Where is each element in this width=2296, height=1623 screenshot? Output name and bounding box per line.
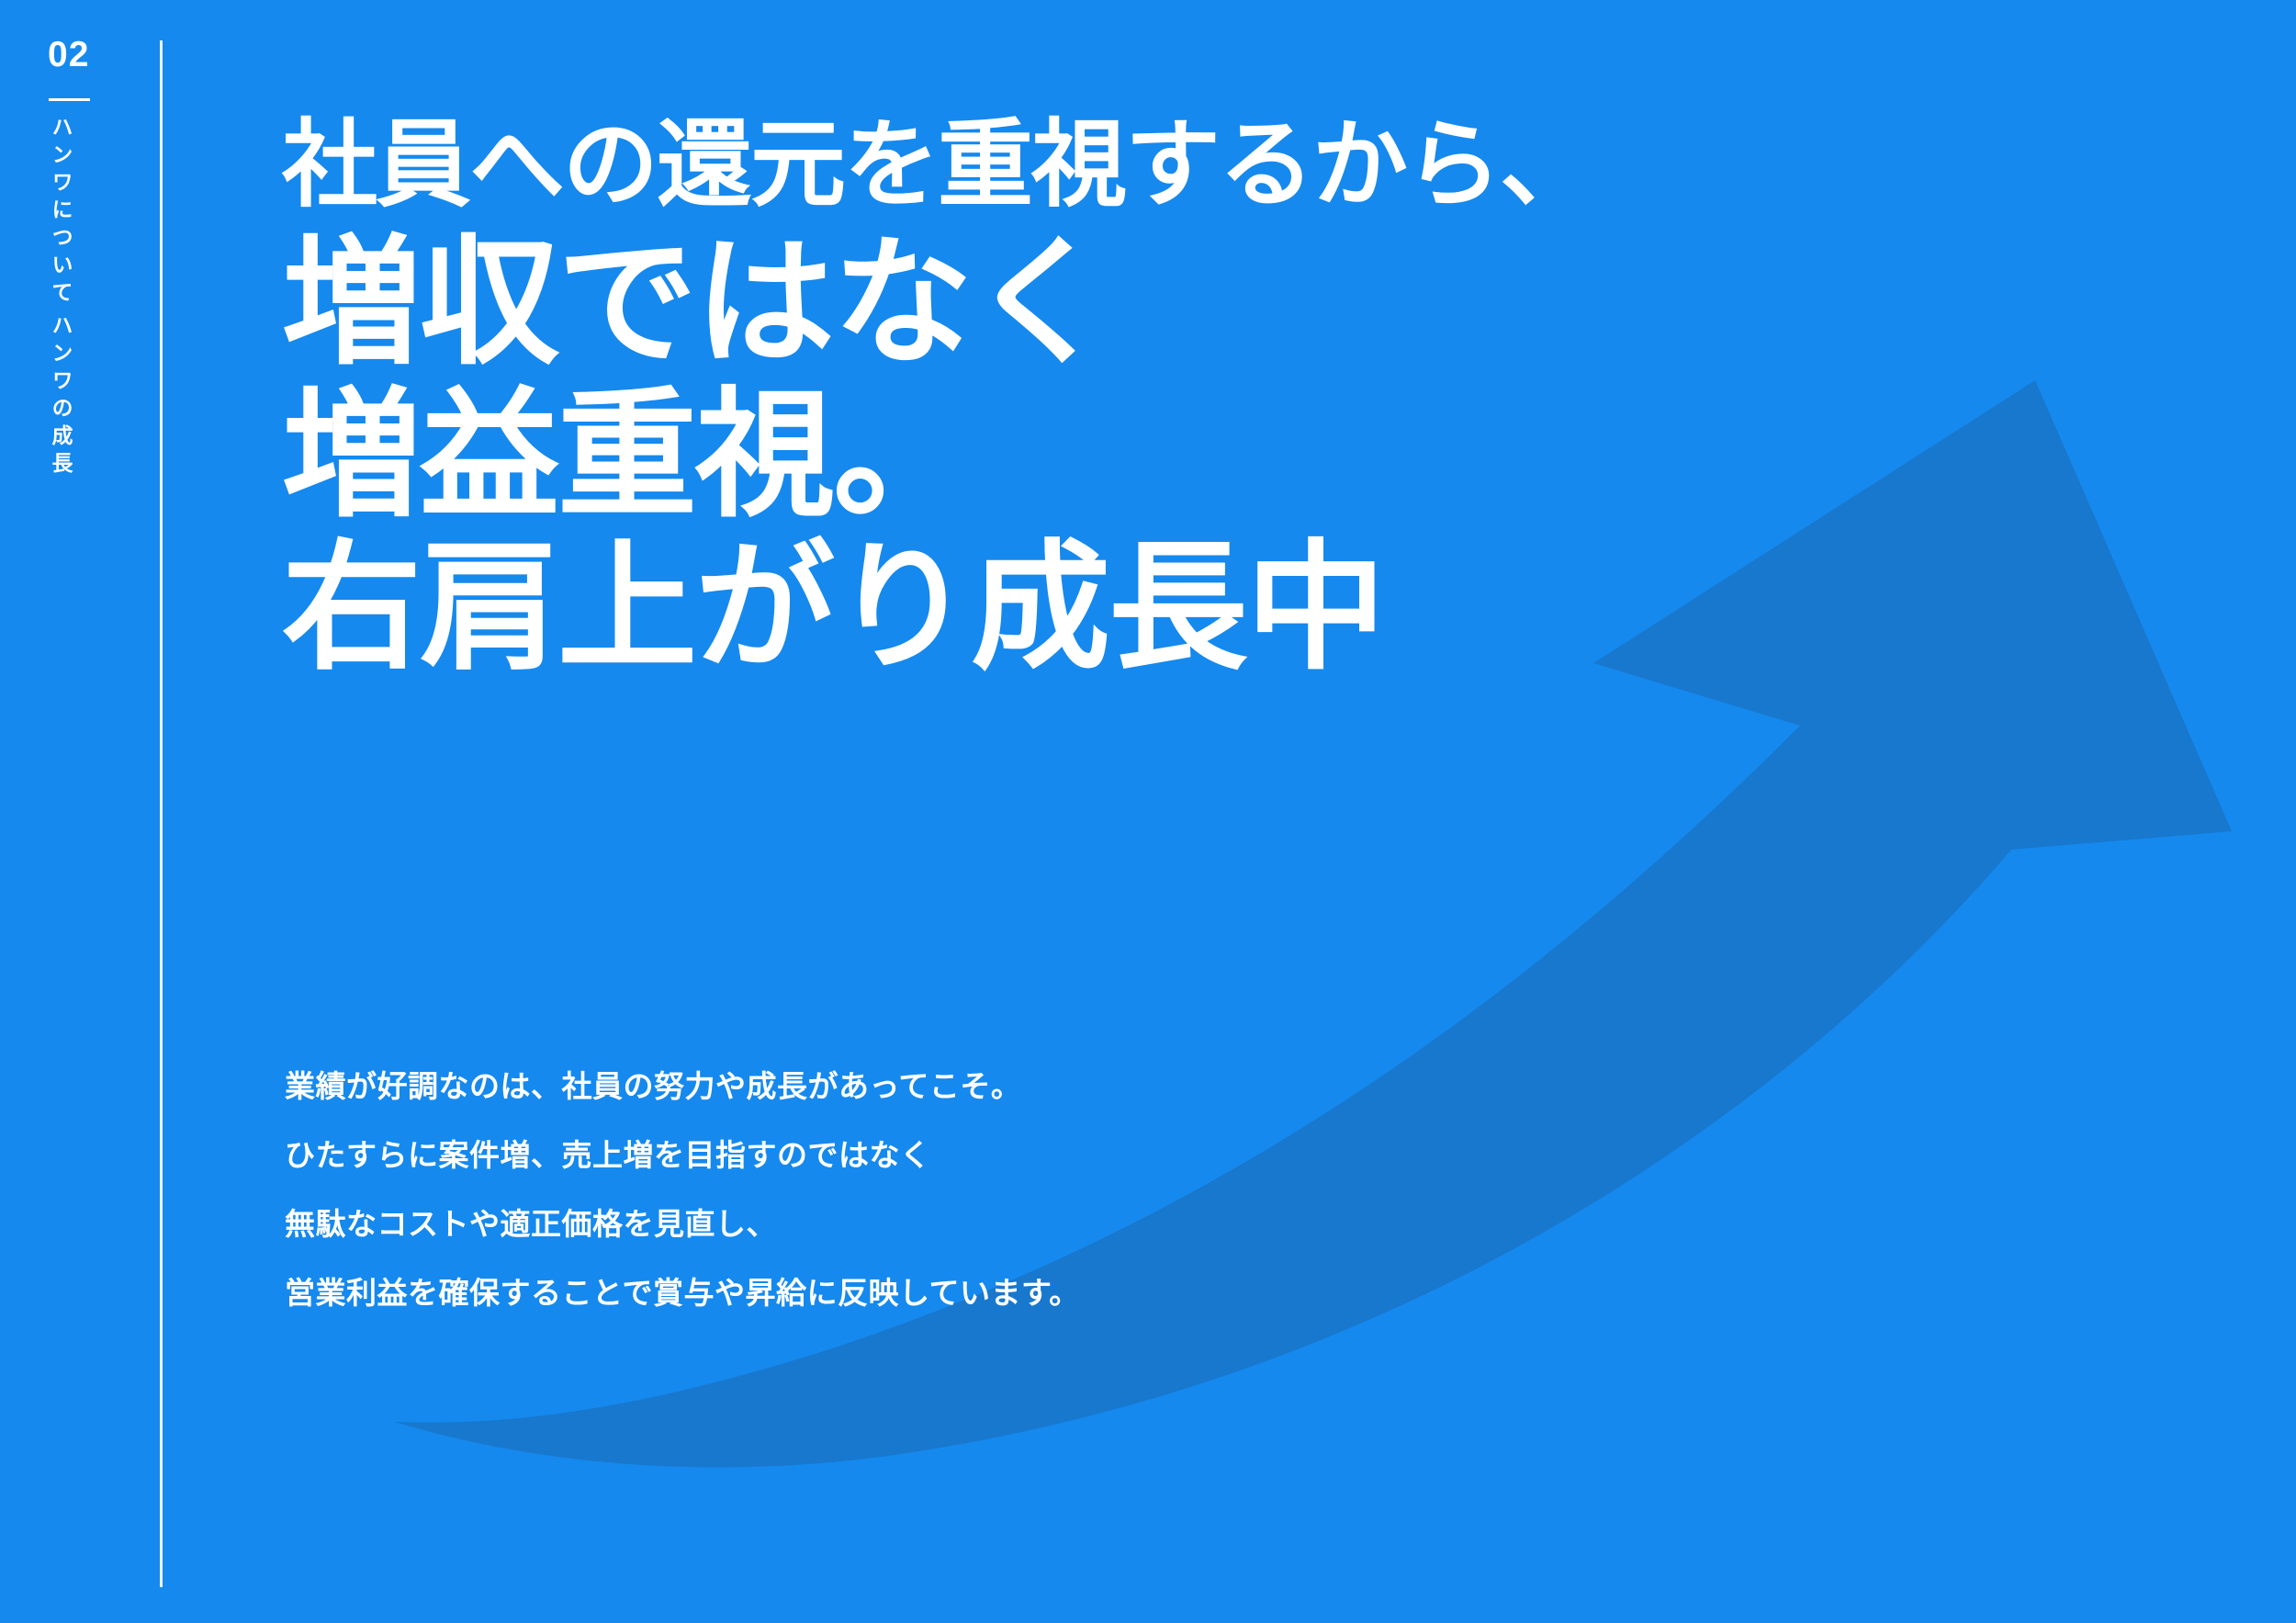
headline-line-1: 社員への還元を重視するから、	[282, 118, 1593, 213]
slide-root: 02 ハンワについて ハンワの成長 社員への還元を重視するから、 増収ではなく …	[0, 0, 2296, 1623]
body-line-4: 営業利益を確保することで賞与や昇給に反映しています。	[285, 1278, 1080, 1308]
body-line-2: ひたすらに案件増、売上増を目指すのではなく	[285, 1140, 1080, 1170]
section-number: 02	[48, 37, 89, 73]
headline-line-4: 右肩上がり成長中	[282, 538, 1593, 678]
headline-line-3: 増益重視。	[282, 386, 1593, 525]
page-title: 社員への還元を重視するから、 増収ではなく 増益重視。 右肩上がり成長中	[282, 118, 1593, 678]
sidebar-rule	[49, 98, 90, 101]
sidebar-item-about[interactable]: ハンワについて	[50, 116, 71, 309]
body-copy: 業績が好調なのは、社員の努力や成長があってこそ。 ひたすらに案件増、売上増を目指…	[285, 1071, 1080, 1308]
sidebar-divider	[160, 40, 163, 1587]
sidebar-item-growth[interactable]: ハンワの成長	[50, 314, 71, 479]
body-line-1: 業績が好調なのは、社員の努力や成長があってこそ。	[285, 1071, 1080, 1101]
body-line-3: 無駄なコストや適正価格を見直し、	[285, 1209, 1080, 1239]
headline-line-2: 増収ではなく	[282, 233, 1593, 373]
sidebar: 02 ハンワについて ハンワの成長	[0, 0, 162, 1623]
